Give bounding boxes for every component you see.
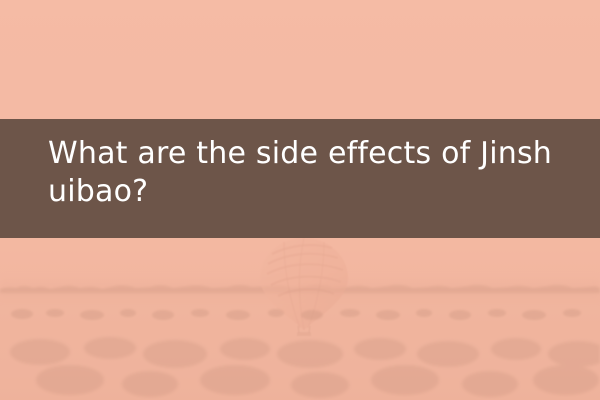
banner-image: What are the side effects of Jinshuibao?	[0, 0, 600, 400]
foreground-herd-silhouettes	[0, 318, 600, 400]
caption-text: What are the side effects of Jinshuibao?	[48, 135, 552, 211]
caption-band: What are the side effects of Jinshuibao?	[0, 119, 600, 238]
